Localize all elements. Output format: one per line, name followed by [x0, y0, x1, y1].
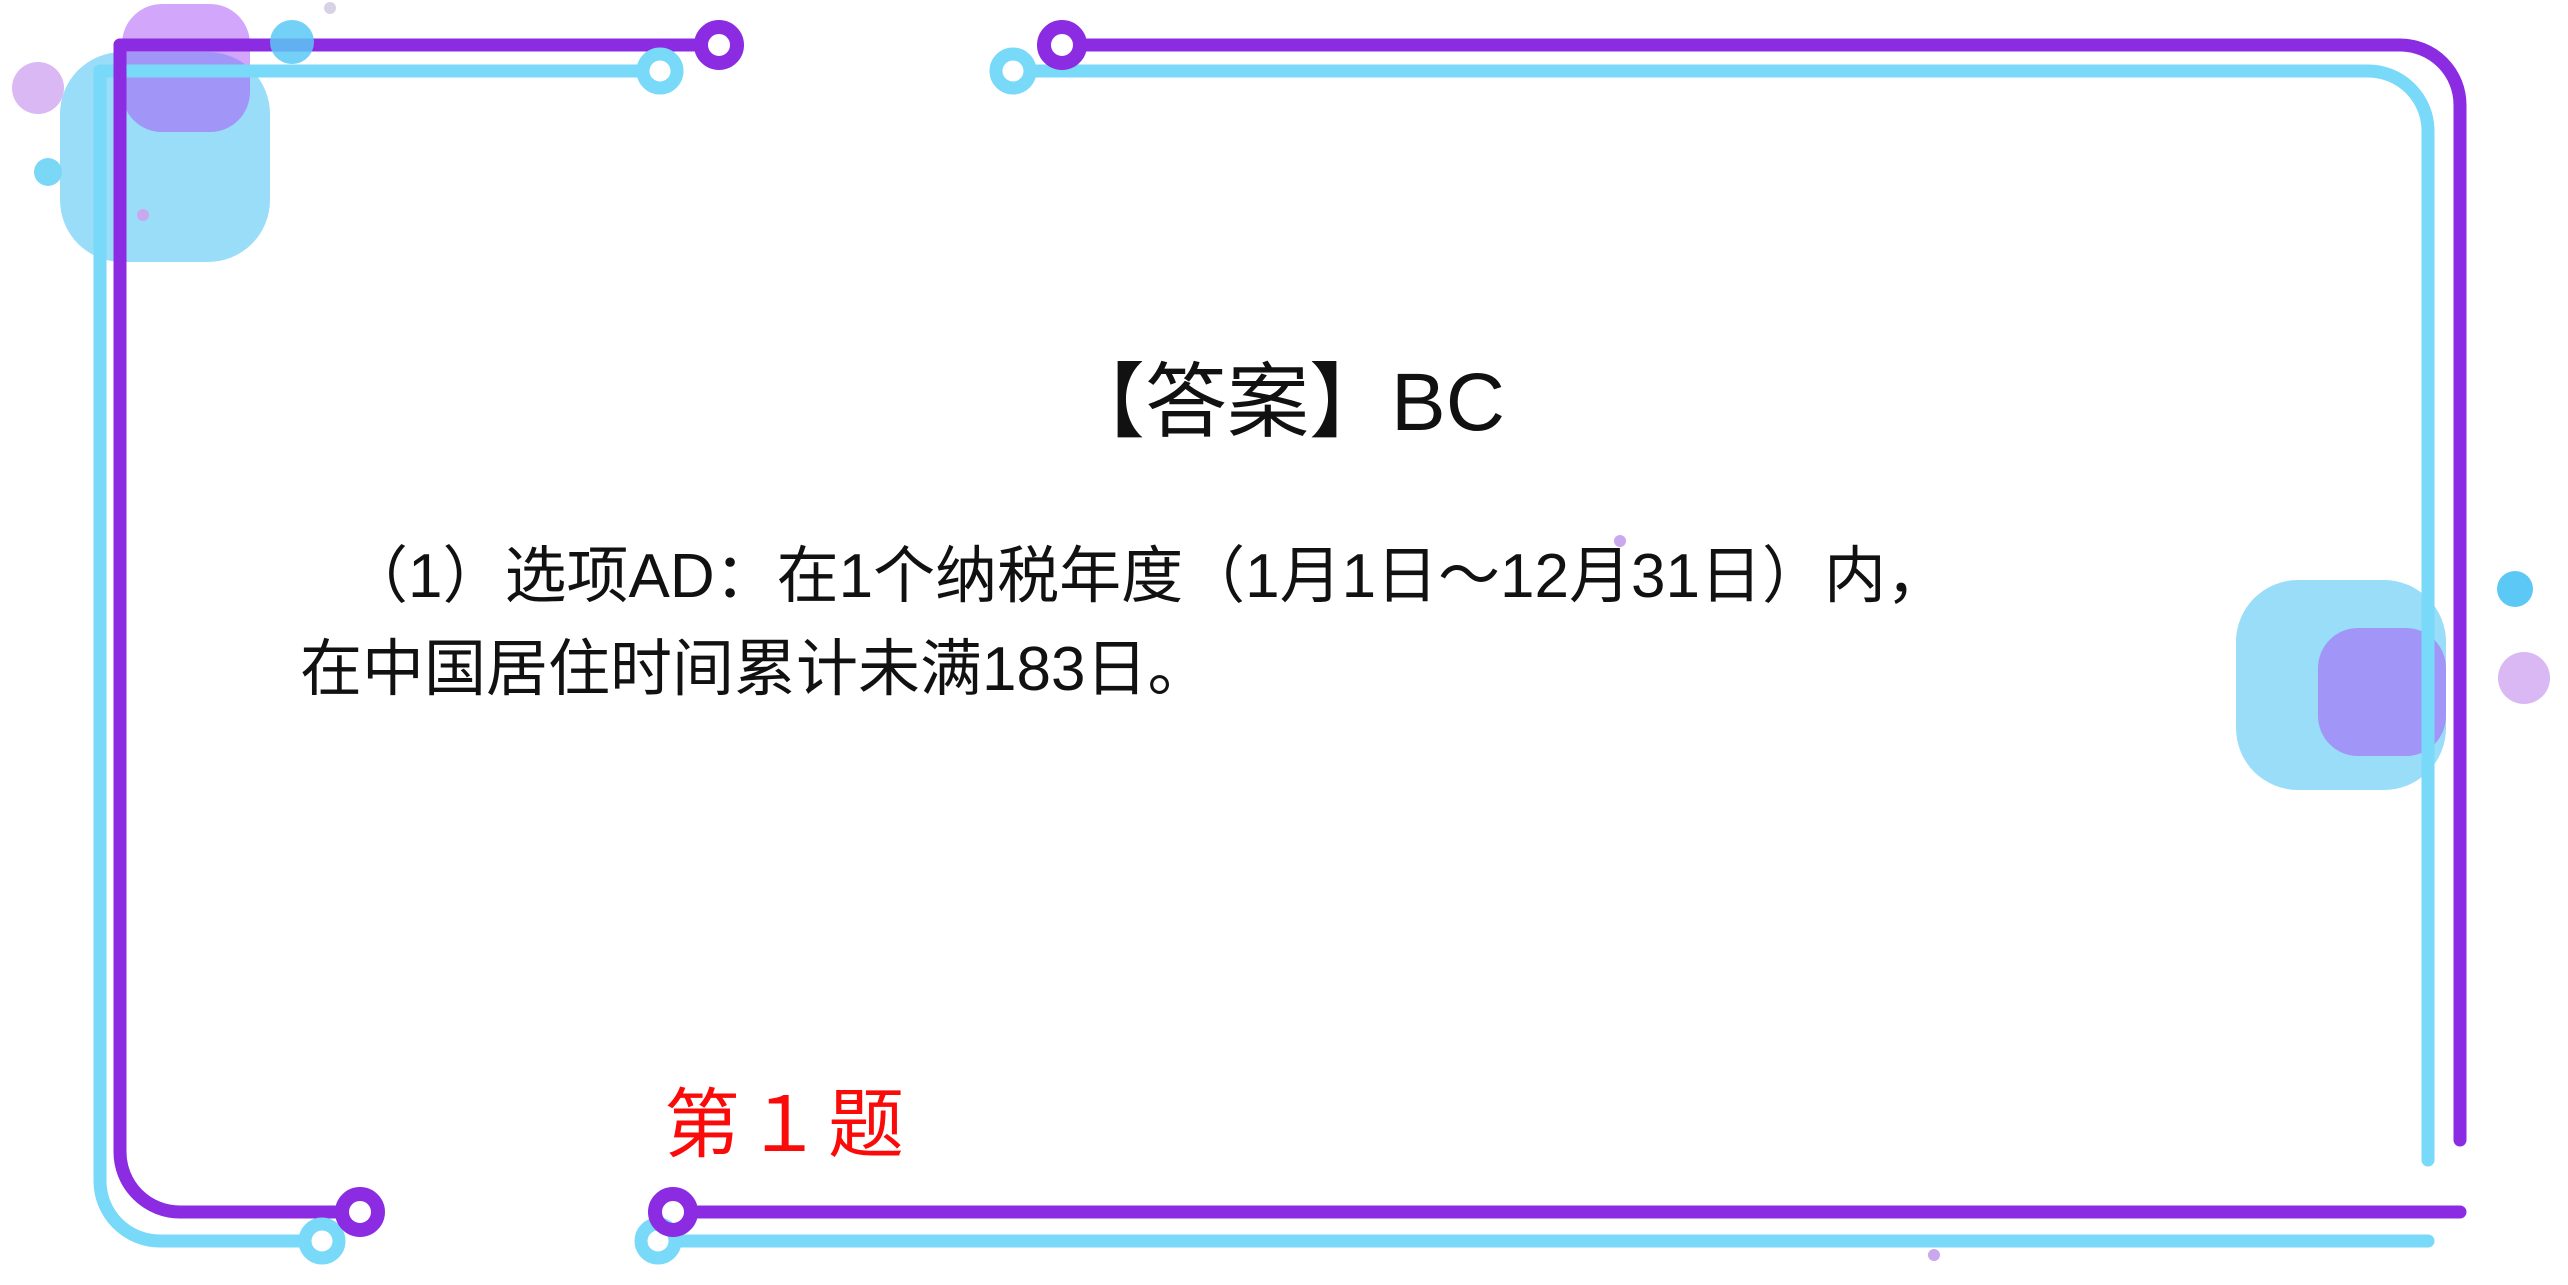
page-title: 【答案】BC	[0, 358, 2568, 448]
answer-body: （1）选项AD：在1个纳税年度（1月1日～12月31日）内， 在中国居住时间累计…	[300, 530, 2260, 716]
content-layer: 【答案】BC （1）选项AD：在1个纳税年度（1月1日～12月31日）内， 在中…	[0, 0, 2568, 1285]
answer-paragraph-2: 在中国居住时间累计未满183日。	[300, 623, 2260, 716]
question-number-label: 第１题	[664, 1088, 910, 1164]
slide-root: 【答案】BC （1）选项AD：在1个纳税年度（1月1日～12月31日）内， 在中…	[0, 0, 2568, 1285]
answer-paragraph-1: （1）选项AD：在1个纳税年度（1月1日～12月31日）内，	[300, 530, 2260, 623]
